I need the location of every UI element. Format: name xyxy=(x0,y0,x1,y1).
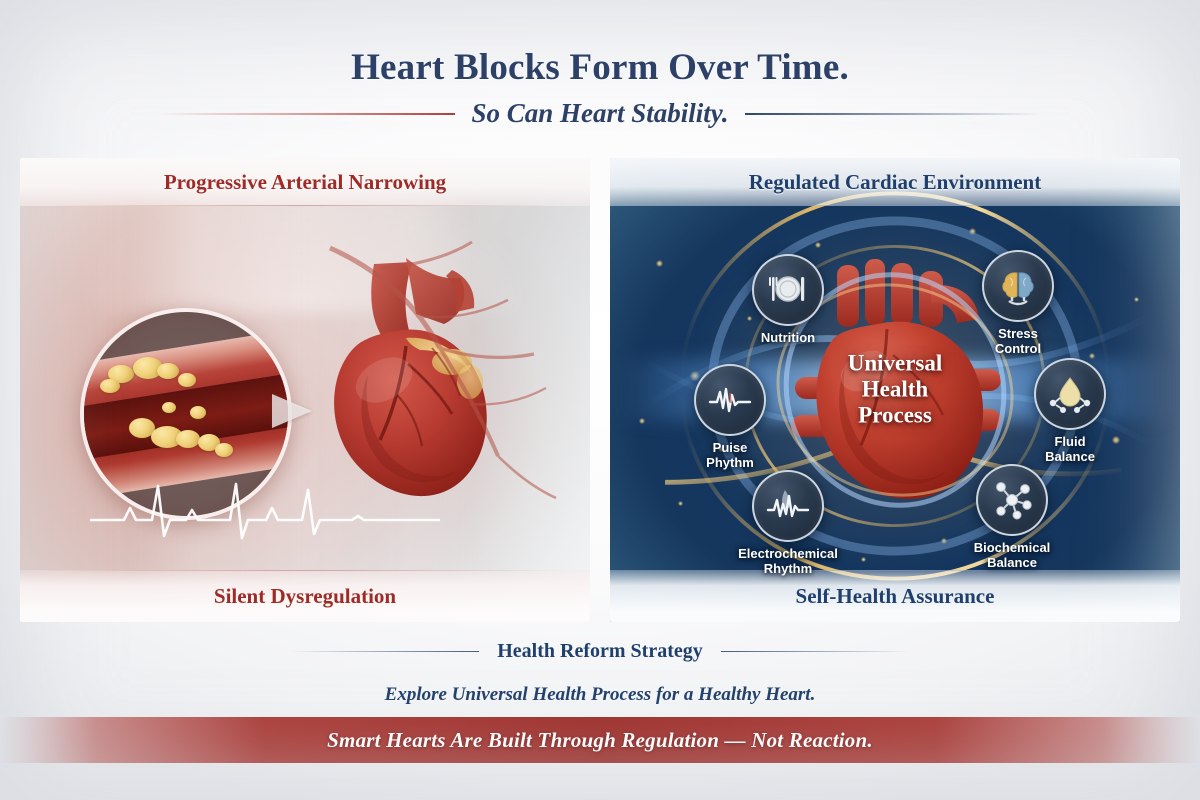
title-rule-blue xyxy=(745,113,1041,115)
node-puise-phythm[interactable]: Puise Phythm xyxy=(684,364,776,470)
subtitle-row: So Can Heart Stability. xyxy=(0,98,1200,129)
callout-arrow-icon xyxy=(272,394,312,428)
strategy-row: Health Reform Strategy xyxy=(0,640,1200,663)
strategy-rule-right xyxy=(721,651,911,653)
panel-progressive-arterial-narrowing: Progressive Arterial Narrowing Silent Dy… xyxy=(20,158,590,622)
page-title: Heart Blocks Form Over Time. xyxy=(0,46,1200,89)
pulse-wave-icon xyxy=(694,364,766,436)
plate-fork-knife-icon xyxy=(752,254,824,326)
badge-line-1: Universal xyxy=(802,351,988,377)
node-fluid-balance[interactable]: Fluid Balance xyxy=(1024,358,1116,464)
title-block: Heart Blocks Form Over Time. So Can Hear… xyxy=(0,46,1200,129)
right-panel-footer: Self-Health Assurance xyxy=(610,570,1180,622)
left-panel-footer: Silent Dysregulation xyxy=(20,570,590,622)
node-electrochemical-rhythm[interactable]: Electrochemical Rhythm xyxy=(742,470,834,576)
strategy-label: Health Reform Strategy xyxy=(497,640,703,663)
central-badge-text: Universal Health Process xyxy=(802,351,988,430)
right-panel-footer-label: Self-Health Assurance xyxy=(796,584,995,609)
panel-regulated-cardiac-environment: Universal Health Process xyxy=(610,158,1180,622)
water-droplet-network-icon xyxy=(1034,358,1106,430)
infographic-poster: Heart Blocks Form Over Time. So Can Hear… xyxy=(0,0,1200,800)
right-panel-header: Regulated Cardiac Environment xyxy=(610,158,1180,206)
node-stress-control[interactable]: Stress Control xyxy=(972,250,1064,356)
node-nutrition[interactable]: Nutrition xyxy=(742,254,834,346)
left-panel-header-label: Progressive Arterial Narrowing xyxy=(164,170,446,195)
left-panel-footer-label: Silent Dysregulation xyxy=(214,584,396,609)
tagline-prefix: Explore Universal Health Process for a xyxy=(385,684,699,705)
right-panel-header-label: Regulated Cardiac Environment xyxy=(749,170,1041,195)
ecg-waveform-icon xyxy=(90,474,440,550)
molecule-icon xyxy=(976,464,1048,536)
node-electrochemical-rhythm-label: Electrochemical Rhythm xyxy=(729,547,847,576)
right-panel-artwork: Universal Health Process xyxy=(610,158,1180,622)
badge-line-3: Process xyxy=(802,403,988,429)
panels-container: Progressive Arterial Narrowing Silent Dy… xyxy=(20,158,1180,622)
brain-icon xyxy=(982,250,1054,322)
tagline-emphasis: Healthy Heart. xyxy=(698,684,815,705)
left-panel-artwork xyxy=(20,158,590,622)
bottom-banner-text: Smart Hearts Are Built Through Regulatio… xyxy=(327,728,873,753)
bottom-banner: Smart Hearts Are Built Through Regulatio… xyxy=(0,717,1200,763)
ecg-pulse-icon xyxy=(752,470,824,542)
strategy-rule-left xyxy=(289,651,479,653)
tagline: Explore Universal Health Process for a H… xyxy=(0,684,1200,706)
node-nutrition-label: Nutrition xyxy=(742,331,834,346)
badge-line-2: Health xyxy=(802,377,988,403)
page-subtitle: So Can Heart Stability. xyxy=(471,98,728,129)
node-biochemical-balance[interactable]: Biochemical Balance xyxy=(966,464,1058,570)
title-rule-red xyxy=(159,113,455,115)
node-puise-phythm-label: Puise Phythm xyxy=(684,441,776,470)
node-fluid-balance-label: Fluid Balance xyxy=(1024,435,1116,464)
node-biochemical-balance-label: Biochemical Balance xyxy=(966,541,1058,570)
footer-section: Health Reform Strategy Explore Universal… xyxy=(0,622,1200,800)
left-panel-header: Progressive Arterial Narrowing xyxy=(20,158,590,206)
